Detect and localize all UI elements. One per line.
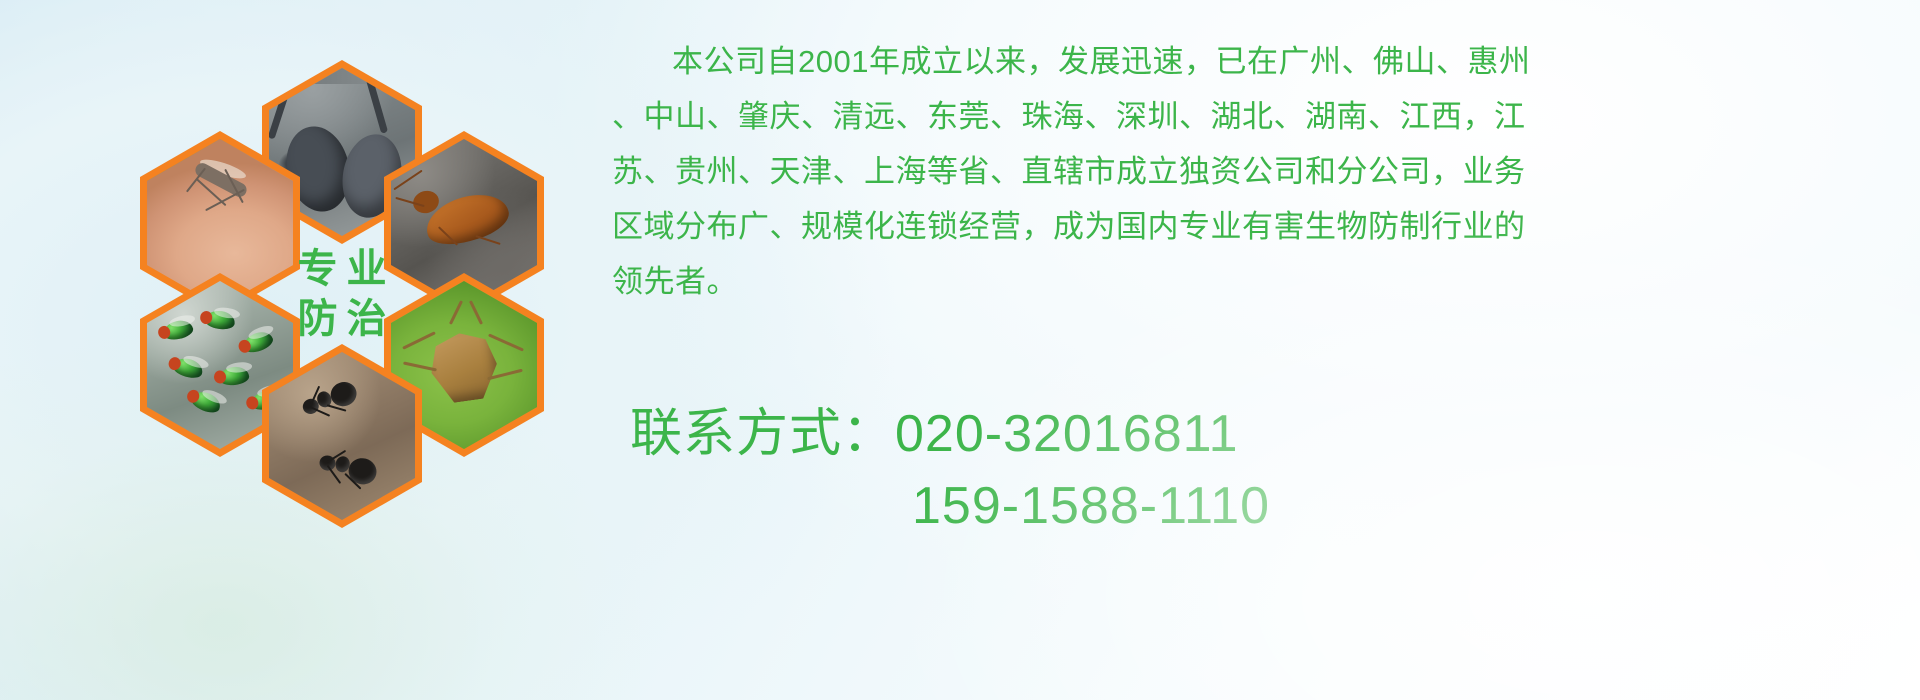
contact-block: 联系方式：020-32016811 159-1588-1110 xyxy=(630,398,1900,542)
contact-primary-line: 联系方式：020-32016811 xyxy=(630,398,1900,470)
about-paragraph: 本公司自2001年成立以来，发展迅速，已在广州、佛山、惠州 、中山、肇庆、清远、… xyxy=(612,34,1880,309)
contact-label: 联系方式： xyxy=(630,405,895,463)
about-line-3: 苏、贵州、天津、上海等省、直辖市成立独资公司和分公司，业务 xyxy=(612,144,1880,199)
about-line-2: 、中山、肇庆、清远、东莞、珠海、深圳、湖北、湖南、江西，江 xyxy=(612,89,1880,144)
contact-phone-primary[interactable]: 020-32016811 xyxy=(895,405,1239,463)
hexagon-photo-cluster: 专业 防治 xyxy=(92,14,592,574)
promo-banner: 专业 防治 本公司自2001年成立以来，发展迅速，已在广州、佛山、惠州 、中山、… xyxy=(0,0,1920,700)
contact-phone-secondary[interactable]: 159-1588-1110 xyxy=(912,477,1270,535)
copy-block: 本公司自2001年成立以来，发展迅速，已在广州、佛山、惠州 、中山、肇庆、清远、… xyxy=(612,34,1880,309)
about-line-4: 区域分布广、规模化连锁经营，成为国内专业有害生物防制行业的 xyxy=(612,199,1880,254)
about-line-5: 领先者。 xyxy=(612,254,1880,309)
contact-secondary-line: 159-1588-1110 xyxy=(630,470,1900,542)
about-line-1: 本公司自2001年成立以来，发展迅速，已在广州、佛山、惠州 xyxy=(612,34,1880,89)
